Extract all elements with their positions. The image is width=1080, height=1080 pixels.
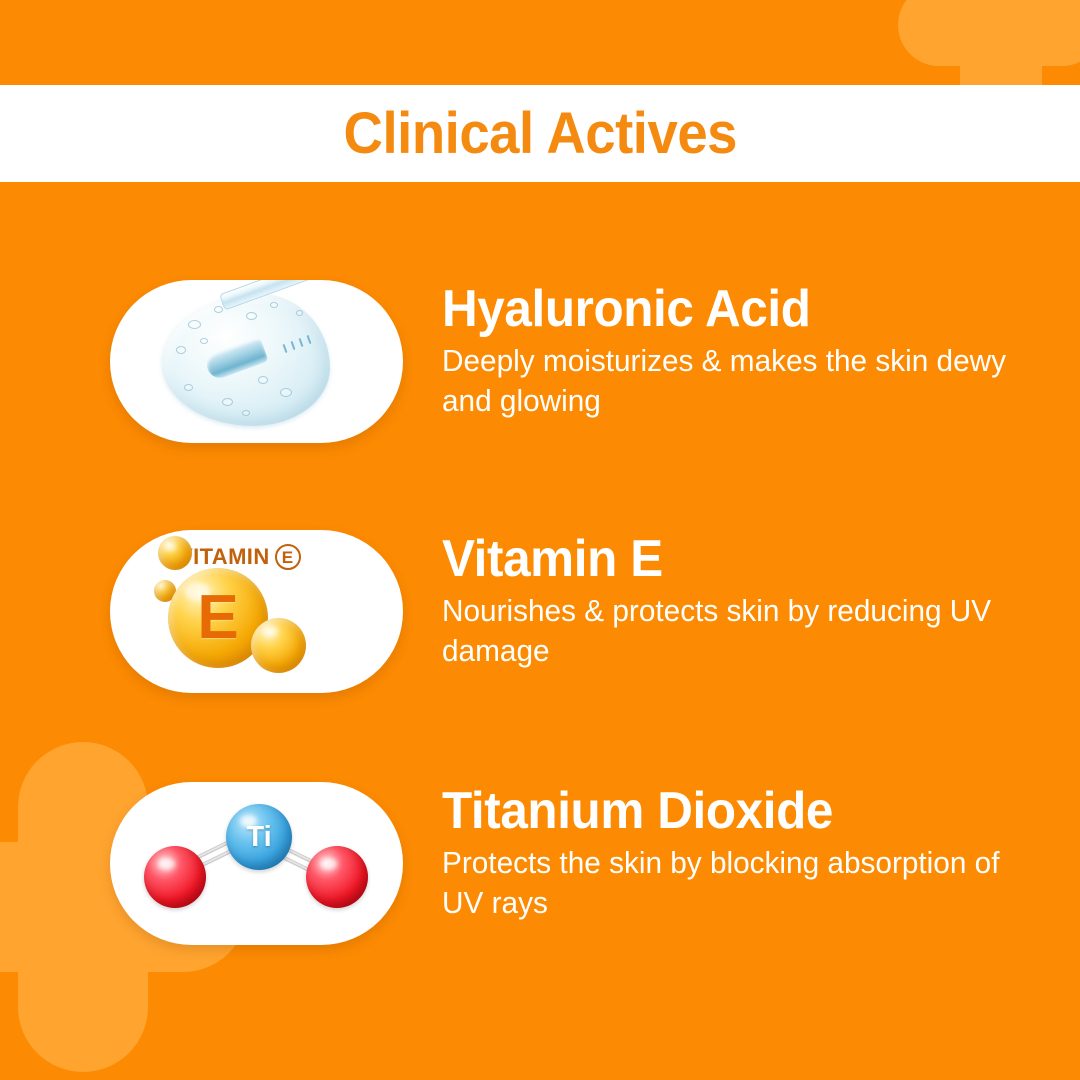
feature-text-block: Vitamin E Nourishes & protects skin by r… <box>403 530 1055 670</box>
feature-description: Protects the skin by blocking absorption… <box>442 843 1030 922</box>
titanium-atom: Ti <box>226 804 292 870</box>
feature-title: Titanium Dioxide <box>442 784 1024 838</box>
header-band: Clinical Actives <box>0 85 1080 182</box>
vitamin-e-label-text: VITAMIN <box>178 544 270 570</box>
vitamin-e-letter: E <box>168 568 268 668</box>
oxygen-atom-right <box>306 846 368 908</box>
feature-title: Hyaluronic Acid <box>442 282 1024 336</box>
hyaluronic-acid-icon-card <box>110 280 403 443</box>
feature-row: Hyaluronic Acid Deeply moisturizes & mak… <box>110 280 1055 443</box>
feature-row: VITAMIN E E Vitamin E Nourishes & protec… <box>110 530 1055 693</box>
feature-title: Vitamin E <box>442 532 1024 586</box>
features-list: Hyaluronic Acid Deeply moisturizes & mak… <box>0 182 1080 1080</box>
page-title: Clinical Actives <box>343 105 736 163</box>
vitamin-e-icon-card: VITAMIN E E <box>110 530 403 693</box>
feature-row: Ti Titanium Dioxide Protects the skin by… <box>110 782 1055 945</box>
feature-text-block: Titanium Dioxide Protects the skin by bl… <box>403 782 1055 922</box>
titanium-dioxide-icon-card: Ti <box>110 782 403 945</box>
feature-description: Nourishes & protects skin by reducing UV… <box>442 591 1030 670</box>
oxygen-atom-left <box>144 846 206 908</box>
feature-description: Deeply moisturizes & makes the skin dewy… <box>442 341 1030 420</box>
feature-text-block: Hyaluronic Acid Deeply moisturizes & mak… <box>403 280 1055 420</box>
vitamin-e-icon-label: VITAMIN E <box>178 544 301 570</box>
vitamin-e-label-badge: E <box>275 544 301 570</box>
